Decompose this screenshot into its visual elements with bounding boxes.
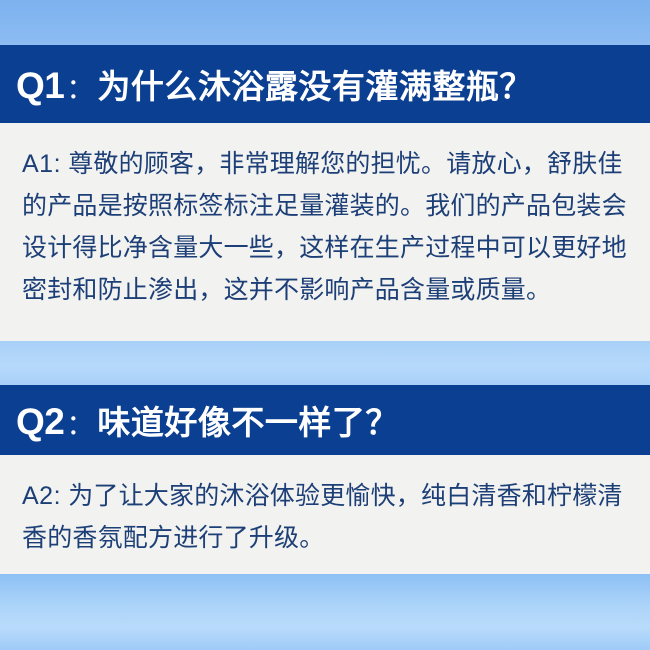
- answer-paragraph-q1: A1: 尊敬的顾客，非常理解您的担忧。请放心，舒肤佳的产品是按照标签标注足量灌装…: [22, 143, 630, 311]
- decorative-band-top: [0, 0, 650, 45]
- question-header-q2: Q2 ： 味道好像不一样了？: [0, 385, 650, 455]
- question-text-q2: 味道好像不一样了？: [97, 396, 399, 444]
- question-separator-q2: ：: [64, 403, 97, 443]
- answer-text-q1: 尊敬的顾客，非常理解您的担忧。请放心，舒肤佳的产品是按照标签标注足量灌装的。我们…: [22, 150, 627, 304]
- question-line-q2: Q2 ： 味道好像不一样了？: [16, 396, 399, 444]
- question-separator-q1: ：: [64, 67, 97, 107]
- answer-text-q2: 为了让大家的沐浴体验更愉快，纯白清香和柠檬清香的香氛配方进行了升级。: [22, 482, 623, 552]
- faq-page: Q1 ： 为什么沐浴露没有灌满整瓶？ A1: 尊敬的顾客，非常理解您的担忧。请放…: [0, 0, 650, 650]
- answer-paragraph-q2: A2: 为了让大家的沐浴体验更愉快，纯白清香和柠檬清香的香氛配方进行了升级。: [22, 475, 630, 559]
- question-line-q1: Q1 ： 为什么沐浴露没有灌满整瓶？: [16, 60, 533, 108]
- question-tag-q1: Q1: [16, 65, 64, 107]
- answer-block-q2: A2: 为了让大家的沐浴体验更愉快，纯白清香和柠檬清香的香氛配方进行了升级。: [0, 455, 650, 574]
- question-text-q1: 为什么沐浴露没有灌满整瓶？: [97, 60, 533, 108]
- decorative-band-middle: [0, 341, 650, 385]
- question-tag-q2: Q2: [16, 401, 64, 443]
- answer-tag-q2: A2:: [22, 482, 61, 510]
- answer-block-q1: A1: 尊敬的顾客，非常理解您的担忧。请放心，舒肤佳的产品是按照标签标注足量灌装…: [0, 123, 650, 341]
- question-header-q1: Q1 ： 为什么沐浴露没有灌满整瓶？: [0, 45, 650, 123]
- decorative-band-bottom: [0, 574, 650, 650]
- answer-tag-q1: A1:: [22, 150, 61, 178]
